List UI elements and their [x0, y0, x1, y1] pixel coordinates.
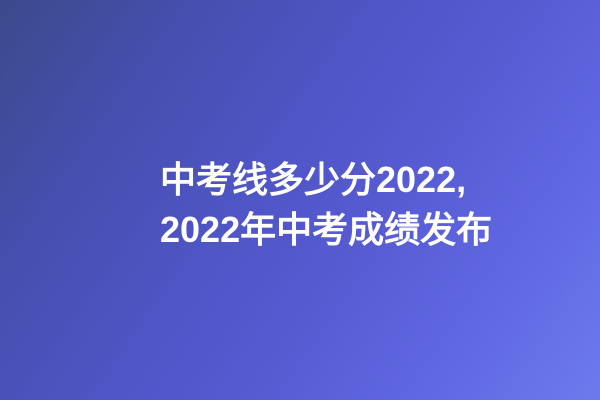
article-title-banner: 中考线多少分2022, 2022年中考成绩发布 [0, 0, 600, 400]
title-line-1: 中考线多少分2022, [160, 155, 460, 205]
page-title: 中考线多少分2022, 2022年中考成绩发布 [160, 155, 460, 255]
title-line-2: 2022年中考成绩发布 [160, 205, 460, 255]
